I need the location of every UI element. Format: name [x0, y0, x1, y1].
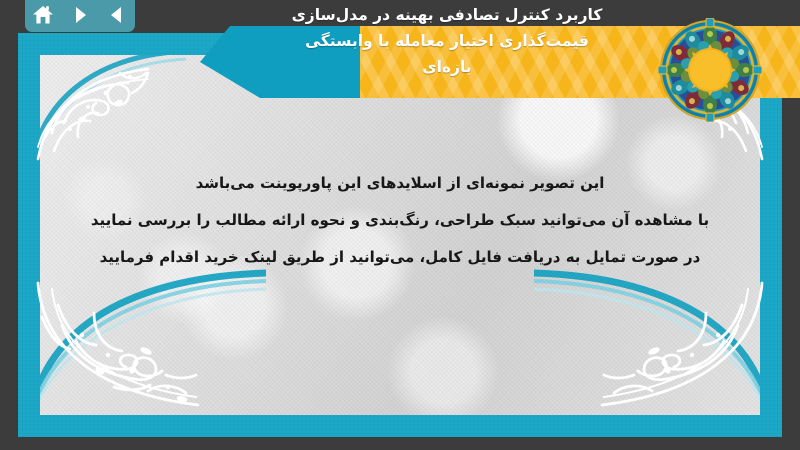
- persian-medallion-ornament: [658, 18, 762, 122]
- body-line-1: این تصویر نمونه‌ای از اسلایدهای این پاور…: [78, 165, 722, 202]
- home-button[interactable]: [31, 3, 55, 27]
- curve-decoration-top-left: [40, 55, 186, 171]
- next-slide-button[interactable]: [68, 3, 92, 27]
- slide-body-text: این تصویر نمونه‌ای از اسلایدهای این پاور…: [78, 165, 722, 276]
- title-line-1: کاربرد کنترل تصادفی بهینه در مدل‌سازی: [200, 2, 694, 28]
- slide-viewer: این تصویر نمونه‌ای از اسلایدهای این پاور…: [0, 0, 800, 450]
- slide-title: کاربرد کنترل تصادفی بهینه در مدل‌سازی قی…: [200, 2, 694, 80]
- triangle-right-icon: [70, 5, 90, 25]
- curve-decoration-bottom-left: [40, 269, 266, 415]
- body-line-3: در صورت تمایل به دریافت فایل کامل، می‌تو…: [78, 239, 722, 276]
- title-line-2: قیمت‌گذاری اختیار معامله با وابستگی: [200, 28, 694, 54]
- navigation-toolbar: [25, 0, 135, 32]
- title-line-3: بازه‌ای: [200, 54, 694, 80]
- previous-slide-button[interactable]: [105, 3, 129, 27]
- home-icon: [32, 5, 54, 25]
- curve-decoration-bottom-right: [534, 269, 760, 415]
- body-line-2: با مشاهده آن می‌توانید سبک طراحی، رنگ‌بن…: [78, 202, 722, 239]
- triangle-left-icon: [107, 5, 127, 25]
